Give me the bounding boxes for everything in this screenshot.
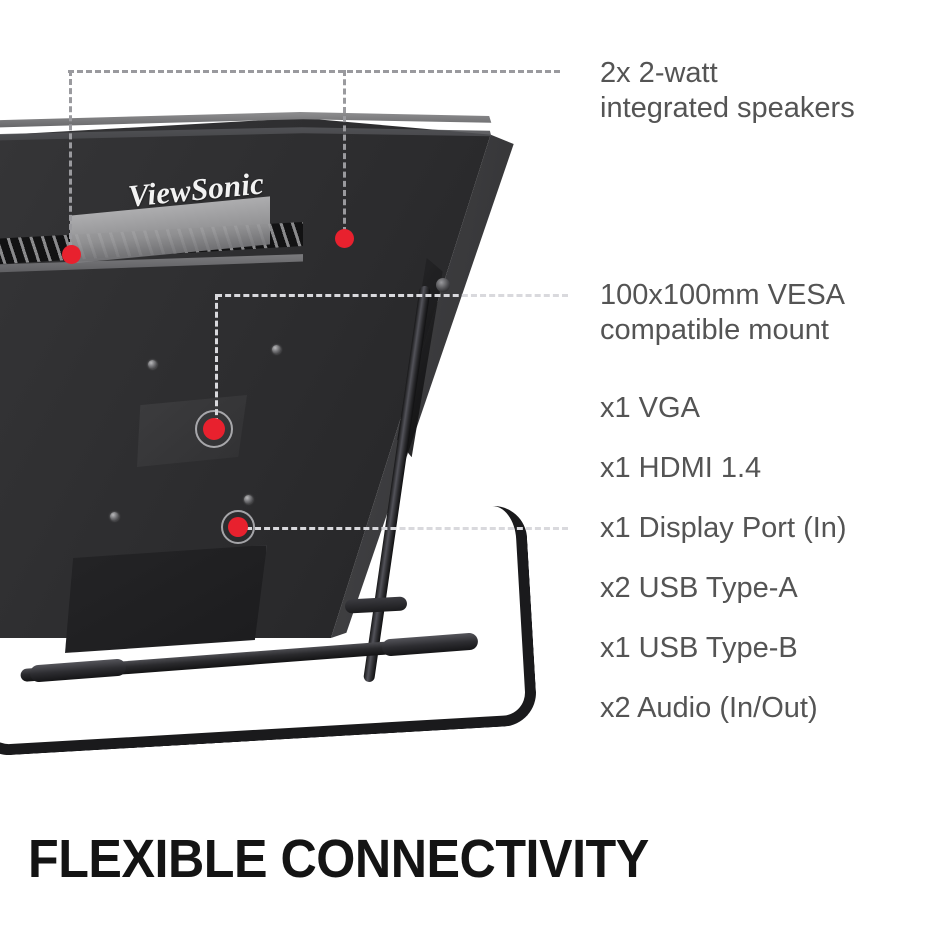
vesa-label-line-1: 100x100mm VESA <box>600 278 845 313</box>
vesa-screw-hole <box>244 495 253 504</box>
leader-line-vesa-drop <box>215 294 218 424</box>
leader-line-speaker-left-drop <box>69 70 72 248</box>
vesa-screw-hole <box>272 345 281 354</box>
leader-line-speaker-right-drop <box>343 70 346 233</box>
port-spec-item: x1 Display Port (In) <box>600 512 847 545</box>
port-spec-item: x2 USB Type-A <box>600 572 798 605</box>
leader-line-speakers-horizontal <box>68 70 560 73</box>
vesa-screw-hole <box>148 360 157 369</box>
speakers-label-line-2: integrated speakers <box>600 91 855 126</box>
headline-text: FLEXIBLE CONNECTIVITY <box>28 828 649 890</box>
vesa-label-line-2: compatible mount <box>600 313 845 348</box>
port-spec-item: x1 VGA <box>600 392 700 425</box>
callout-dot-speaker-right <box>335 229 354 248</box>
leader-line-vesa <box>216 294 568 297</box>
callout-label-vesa: 100x100mm VESA compatible mount <box>600 278 845 349</box>
callout-label-speakers: 2x 2-watt integrated speakers <box>600 56 855 127</box>
vesa-screw-hole <box>110 512 119 521</box>
wire-stand-frame <box>0 504 538 757</box>
product-photo-monitor-rear: ViewSonic <box>0 0 600 800</box>
speakers-label-line-1: 2x 2-watt <box>600 56 855 91</box>
port-spec-item: x1 USB Type-B <box>600 632 798 665</box>
callout-label-column: 2x 2-watt integrated speakers 100x100mm … <box>600 0 940 800</box>
callout-dot-speaker-left <box>62 245 81 264</box>
callout-dot-vesa <box>203 418 225 440</box>
leader-line-ports <box>246 527 568 530</box>
infographic-canvas: ViewSonic 2x 2-watt integrated speakers <box>0 0 940 940</box>
stand-hinge-pivot <box>436 278 450 292</box>
port-spec-item: x1 HDMI 1.4 <box>600 452 761 485</box>
port-spec-item: x2 Audio (In/Out) <box>600 692 818 725</box>
callout-dot-ports <box>228 517 248 537</box>
